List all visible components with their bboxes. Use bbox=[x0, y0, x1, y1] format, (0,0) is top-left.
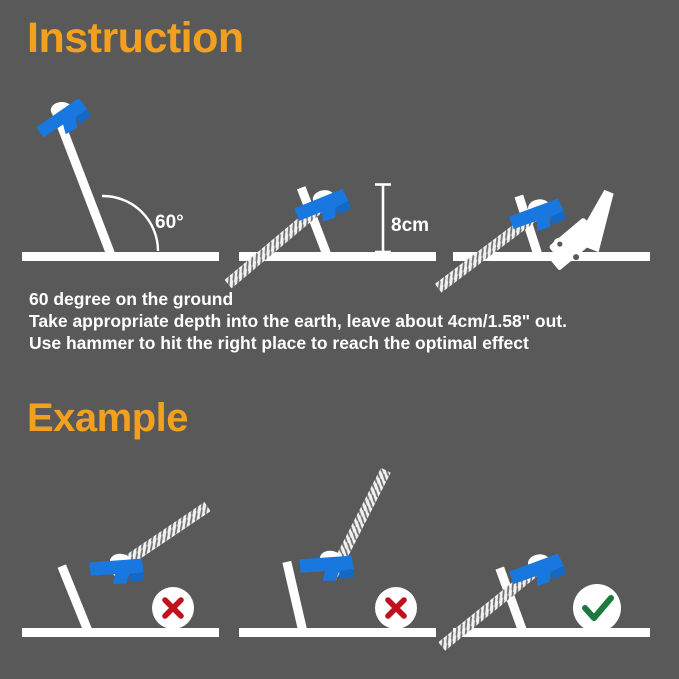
guy-rope bbox=[108, 502, 210, 576]
instruction-line-2: Take appropriate depth into the earth, l… bbox=[29, 310, 649, 332]
example-ground-lines bbox=[22, 628, 650, 637]
instruction-text-block: 60 degree on the ground Take appropriate… bbox=[29, 288, 649, 354]
stake-clip-head bbox=[297, 547, 357, 585]
instruction-panel-hammer bbox=[435, 178, 621, 292]
stake-shaft bbox=[297, 186, 332, 258]
example-panel-correct bbox=[438, 551, 621, 651]
height-label: 8cm bbox=[391, 215, 429, 236]
stake-clip-head bbox=[292, 186, 353, 226]
ground-line bbox=[22, 252, 219, 261]
example-panel-too-shallow bbox=[58, 502, 211, 634]
guy-rope bbox=[225, 198, 330, 289]
instruction-sheet: Instruction Example 60 degree on the gro… bbox=[0, 0, 679, 679]
instruction-panel-angle: 60° bbox=[30, 90, 184, 265]
ground-line bbox=[239, 628, 436, 637]
stake-shaft bbox=[282, 561, 307, 635]
angle-label: 60° bbox=[155, 212, 184, 233]
ground-line bbox=[453, 252, 650, 261]
stake-clip-head bbox=[30, 90, 94, 143]
stake-shaft bbox=[515, 195, 543, 259]
stake-shaft bbox=[58, 564, 93, 634]
stake-clip-head bbox=[507, 196, 567, 234]
guy-rope bbox=[438, 562, 544, 651]
instruction-ground-lines bbox=[22, 252, 650, 261]
cross-badge bbox=[375, 587, 417, 629]
guy-rope bbox=[435, 207, 544, 293]
stake-clip-head bbox=[87, 550, 147, 588]
example-heading: Example bbox=[27, 398, 188, 438]
check-badge bbox=[573, 584, 621, 632]
instruction-panel-height: 8cm bbox=[225, 184, 429, 288]
guy-rope bbox=[326, 468, 390, 580]
instruction-heading: Instruction bbox=[27, 17, 244, 60]
ground-line bbox=[453, 628, 650, 637]
stake-shaft bbox=[52, 111, 116, 258]
ground-line bbox=[22, 628, 219, 637]
stake-shaft bbox=[496, 567, 528, 636]
instruction-line-1: 60 degree on the ground bbox=[29, 288, 649, 310]
ground-line bbox=[239, 252, 436, 261]
instruction-line-3: Use hammer to hit the right place to rea… bbox=[29, 332, 649, 354]
example-panel-too-steep bbox=[282, 468, 417, 635]
angle-arc bbox=[102, 196, 158, 251]
hammer-icon bbox=[542, 178, 622, 281]
stake-clip-head bbox=[507, 551, 567, 589]
cross-badge bbox=[152, 587, 194, 629]
height-dimension-line bbox=[375, 184, 391, 253]
